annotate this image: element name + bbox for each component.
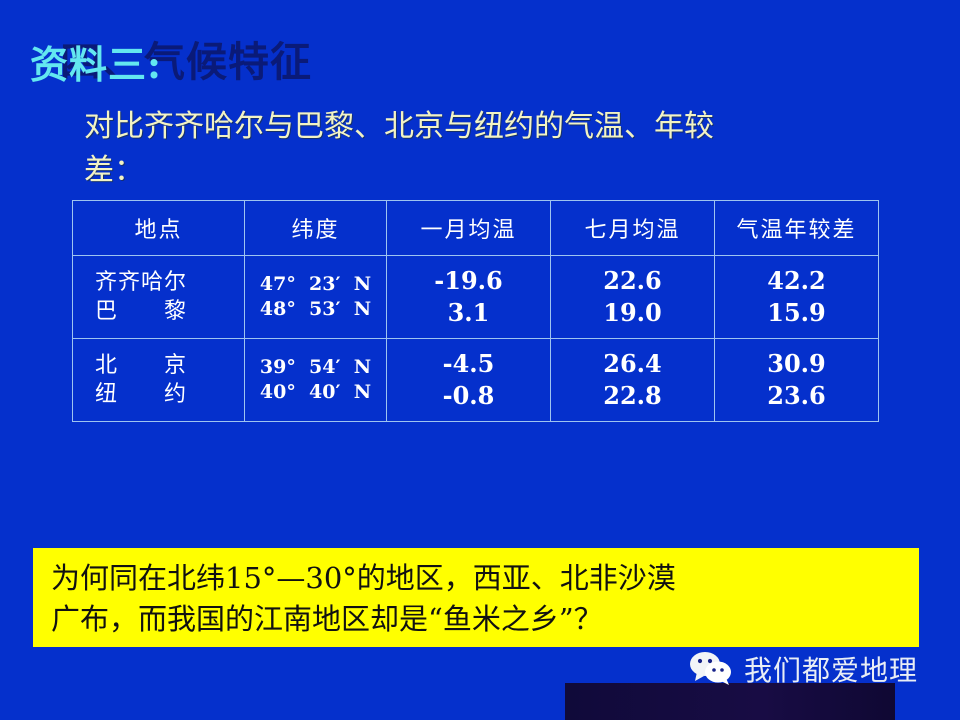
value-line: 19.0: [551, 297, 714, 329]
cell-annual-range: 30.9 23.6: [715, 339, 879, 422]
slide-canvas: 四、气候特征 资料三: 对比齐齐哈尔与巴黎、北京与纽约的气温、年较差： 地点 纬…: [0, 0, 960, 720]
table-header-jul-temp: 七月均温: [551, 201, 715, 256]
table-row: 齐齐哈尔 巴 黎 47° 23′ N 48° 53′ N -19.6 3.1 2…: [73, 256, 879, 339]
value-line: 22.8: [551, 380, 714, 412]
climate-comparison-table: 地点 纬度 一月均温 七月均温 气温年较差 齐齐哈尔 巴 黎 47° 23′ N…: [72, 200, 879, 422]
question-text-block: 为何同在北纬15°—30°的地区，西亚、北非沙漠 广布，而我国的江南地区却是“鱼…: [51, 558, 905, 640]
latitude-line: 40° 40′ N: [245, 380, 386, 405]
question-callout-box: 为何同在北纬15°—30°的地区，西亚、北非沙漠 广布，而我国的江南地区却是“鱼…: [33, 548, 919, 647]
latitude-line: 39° 54′ N: [245, 355, 386, 380]
cell-latitude: 47° 23′ N 48° 53′ N: [245, 256, 387, 339]
value-line: -0.8: [387, 380, 550, 412]
wechat-icon: [688, 652, 734, 686]
place-line: 北 京: [73, 351, 244, 380]
watermark-label: 我们都爱地理: [744, 649, 918, 689]
value-line: -19.6: [387, 265, 550, 297]
value-line: 23.6: [715, 380, 878, 412]
cell-jul-temp: 26.4 22.8: [551, 339, 715, 422]
value-line: -4.5: [387, 348, 550, 380]
slide-title: 四、气候特征 资料三:: [0, 28, 960, 98]
place-line: 纽 约: [73, 380, 244, 409]
value-line: 3.1: [387, 297, 550, 329]
cell-place: 北 京 纽 约: [73, 339, 245, 422]
cell-annual-range: 42.2 15.9: [715, 256, 879, 339]
cell-place: 齐齐哈尔 巴 黎: [73, 256, 245, 339]
value-line: 30.9: [715, 348, 878, 380]
cell-jan-temp: -4.5 -0.8: [387, 339, 551, 422]
watermark: 我们都爱地理: [688, 649, 918, 689]
cell-jan-temp: -19.6 3.1: [387, 256, 551, 339]
cell-jul-temp: 22.6 19.0: [551, 256, 715, 339]
question-line-2: 广布，而我国的江南地区却是“鱼米之乡”？: [51, 602, 603, 636]
table-header-annual-range: 气温年较差: [715, 201, 879, 256]
table-header-place: 地点: [73, 201, 245, 256]
question-line-1: 为何同在北纬15°—30°的地区，西亚、北非沙漠: [51, 561, 676, 595]
table-header-row: 地点 纬度 一月均温 七月均温 气温年较差: [73, 201, 879, 256]
value-line: 26.4: [551, 348, 714, 380]
place-line: 巴 黎: [73, 297, 244, 326]
cell-latitude: 39° 54′ N 40° 40′ N: [245, 339, 387, 422]
latitude-line: 48° 53′ N: [245, 297, 386, 322]
value-line: 22.6: [551, 265, 714, 297]
table-header-jan-temp: 一月均温: [387, 201, 551, 256]
value-line: 42.2: [715, 265, 878, 297]
title-front-text: 资料三:: [30, 34, 162, 89]
value-line: 15.9: [715, 297, 878, 329]
place-line: 齐齐哈尔: [73, 268, 244, 297]
table-row: 北 京 纽 约 39° 54′ N 40° 40′ N -4.5 -0.8 26…: [73, 339, 879, 422]
table-header-latitude: 纬度: [245, 201, 387, 256]
latitude-line: 47° 23′ N: [245, 272, 386, 297]
intro-paragraph: 对比齐齐哈尔与巴黎、北京与纽约的气温、年较差：: [84, 105, 744, 192]
